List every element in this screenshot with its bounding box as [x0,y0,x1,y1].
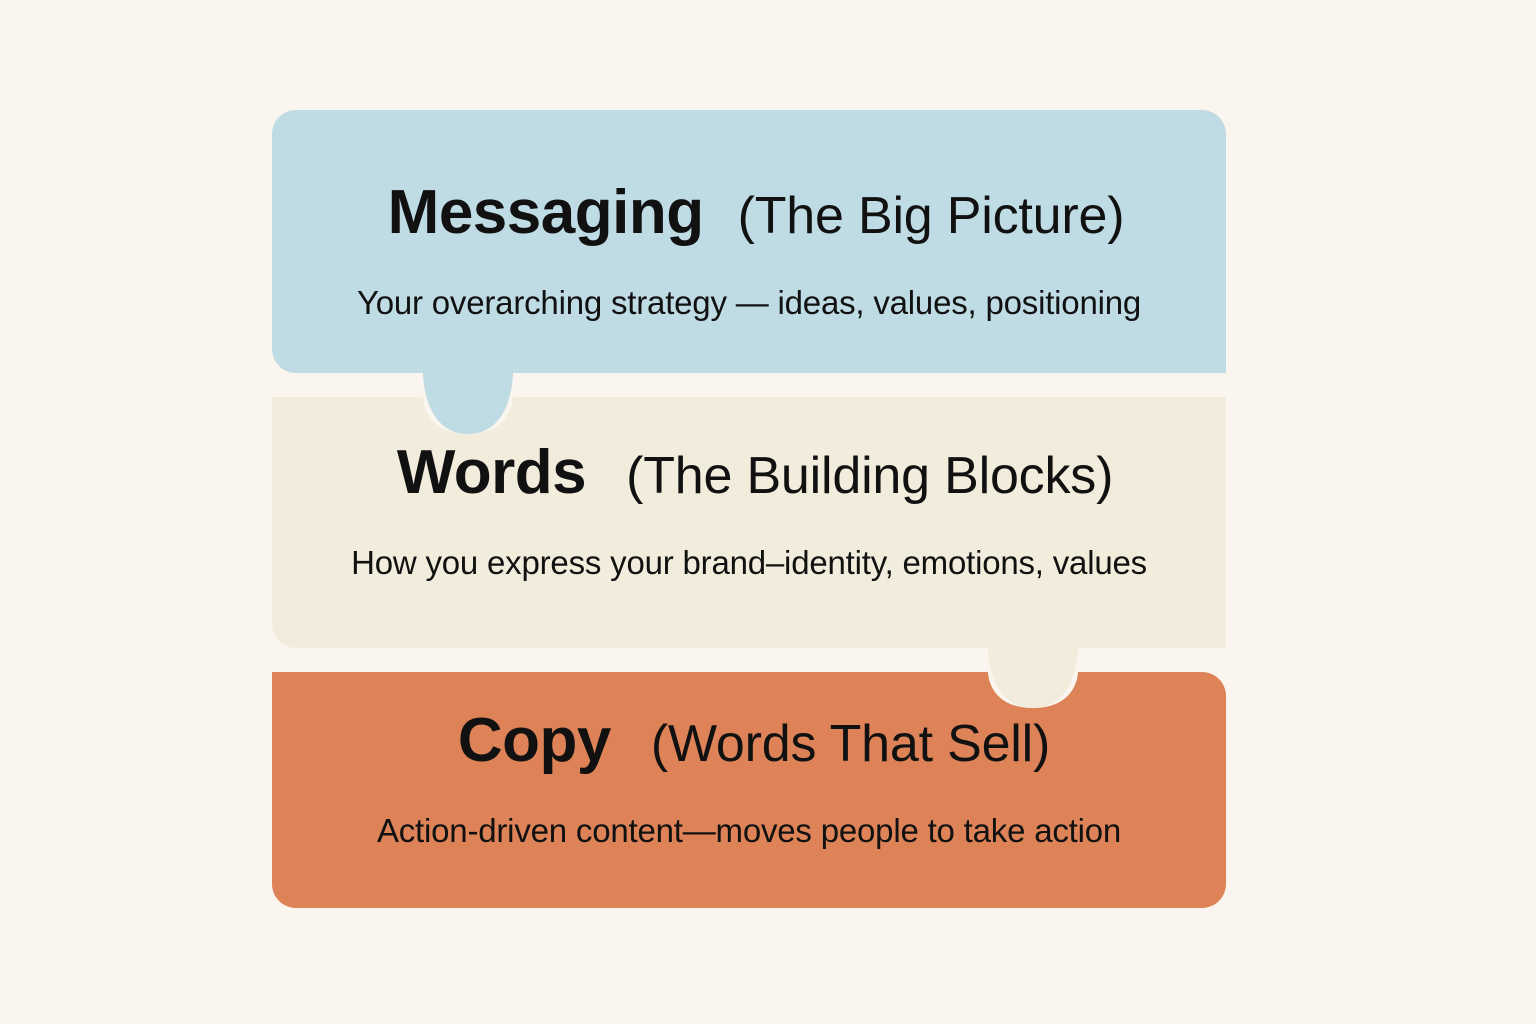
words-parenthetical: (The Building Blocks) [626,447,1113,505]
messaging-subtitle: Your overarching strategy — ideas, value… [272,286,1226,319]
words-heading: Words(The Building Blocks) [272,442,1226,504]
copy-parenthetical: (Words That Sell) [651,715,1050,773]
messaging-heading: Messaging(The Big Picture) [272,182,1226,244]
copy-text-group: Copy(Words That Sell) Action-driven cont… [272,710,1226,847]
messaging-title: Messaging [388,178,704,247]
copy-title: Copy [458,706,611,775]
messaging-parenthetical: (The Big Picture) [738,187,1125,245]
words-subtitle: How you express your brand–identity, emo… [272,546,1226,579]
puzzle-stack: Messaging(The Big Picture) Your overarch… [272,110,1226,908]
messaging-text-group: Messaging(The Big Picture) Your overarch… [272,182,1226,319]
puzzle-diagram: Messaging(The Big Picture) Your overarch… [0,0,1536,1024]
words-title: Words [397,438,586,507]
copy-heading: Copy(Words That Sell) [272,710,1226,772]
copy-subtitle: Action-driven content—moves people to ta… [272,814,1226,847]
words-text-group: Words(The Building Blocks) How you expre… [272,442,1226,579]
